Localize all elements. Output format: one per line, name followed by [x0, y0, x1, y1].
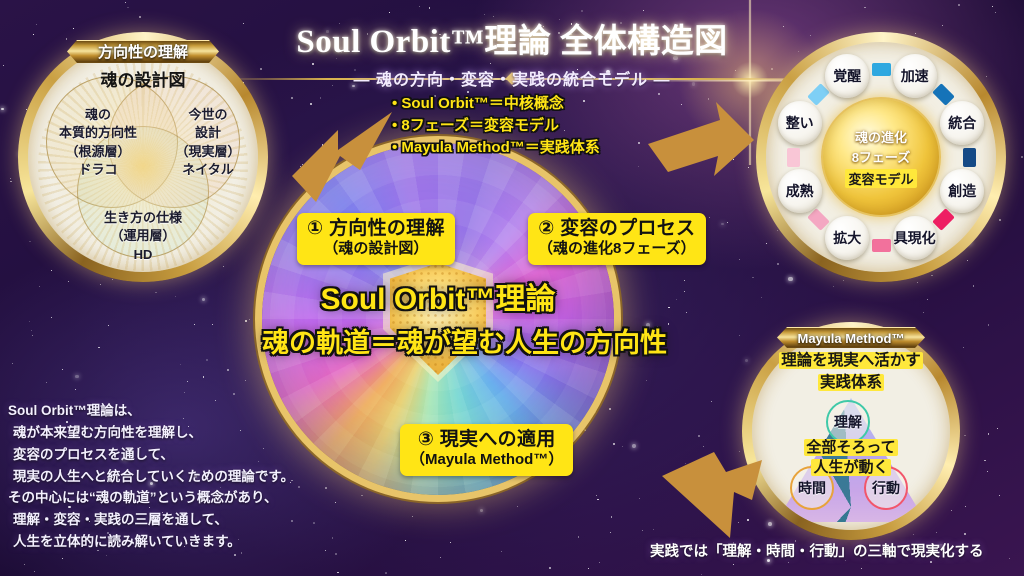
key-concept-bullets: • Soul Orbit™＝中核概念 • 8フェーズ＝変容モデル • Mayul…: [392, 93, 600, 158]
arrow-to-right-panel: [628, 100, 758, 208]
venn-label-natal: 今世の 設計 （現実層） ネイタル: [156, 106, 260, 180]
bullet-item: • Mayula Method™＝実践体系: [392, 137, 600, 159]
phase-node-1[interactable]: 整い: [778, 101, 822, 145]
arrow-to-mayula-panel: [648, 442, 774, 552]
callout-application[interactable]: ③ 現実への適用 （Mayula Method™）: [400, 424, 573, 476]
bullet-item: • Soul Orbit™＝中核概念: [392, 93, 600, 115]
phase-segment-5: [932, 208, 955, 231]
title-block: Soul Orbit™理論 全体構造図 ― 魂の方向・変容・実践の統合モデル ―: [0, 14, 1024, 90]
description-line: その中心には“魂の軌道”という概念があり、: [8, 487, 294, 509]
phase-node-8[interactable]: 成熟: [778, 169, 822, 213]
description-block: Soul Orbit™理論は、 魂が本来望む方向性を理解し、 変容のプロセスを通…: [8, 400, 294, 553]
mayula-heading: 理論を現実へ活かす 実践体系: [742, 350, 960, 393]
phase-segment-4: [963, 148, 976, 167]
page-title: Soul Orbit™理論 全体構造図: [0, 14, 1024, 62]
description-line: Soul Orbit™理論は、: [8, 400, 294, 422]
triangle-center-text: 全部そろって 人生が動く: [752, 438, 950, 479]
phase-node-7[interactable]: 拡大: [825, 216, 869, 260]
arrow-to-left-panel: [282, 98, 402, 210]
footer-note: 実践では「理解・時間・行動」の三軸で現実化する: [650, 540, 984, 561]
page-subtitle: ― 魂の方向・変容・実践の統合モデル ―: [0, 66, 1024, 90]
venn-label-hd: 生き方の仕様 （運用層） HD: [80, 209, 206, 264]
phase-segment-6: [872, 239, 891, 252]
bullet-item: • 8フェーズ＝変容モデル: [392, 115, 600, 137]
description-line: 現実の人生へと統合していくための理論です。: [8, 466, 294, 488]
phase-node-5[interactable]: 創造: [940, 169, 984, 213]
description-line: 理解・変容・実践の三層を通して、: [8, 509, 294, 531]
phase-node-4[interactable]: 統合: [940, 101, 984, 145]
phase-node-6[interactable]: 具現化: [893, 216, 937, 260]
phase-core-label: 魂の進化 8フェーズ 変容モデル: [821, 97, 941, 217]
phase-segment-8: [787, 148, 800, 167]
mayula-ribbon: Mayula Method™: [777, 327, 925, 348]
callout-direction[interactable]: ① 方向性の理解 （魂の設計図）: [297, 213, 455, 265]
venn-label-root: 魂の 本質的方向性 （根源層） ドラコ: [40, 106, 156, 180]
description-line: 魂が本来望む方向性を理解し、: [8, 422, 294, 444]
description-line: 変容のプロセスを通して、: [8, 444, 294, 466]
infographic-canvas: Soul Orbit™理論 全体構造図 ― 魂の方向・変容・実践の統合モデル ―…: [0, 0, 1024, 576]
description-line: 人生を立体的に読み解いていきます。: [8, 531, 294, 553]
core-theory-label: Soul Orbit™理論 魂の軌道＝魂が望む人生の方向性: [262, 274, 614, 360]
callout-transformation[interactable]: ② 変容のプロセス （魂の進化8フェーズ）: [528, 213, 706, 265]
